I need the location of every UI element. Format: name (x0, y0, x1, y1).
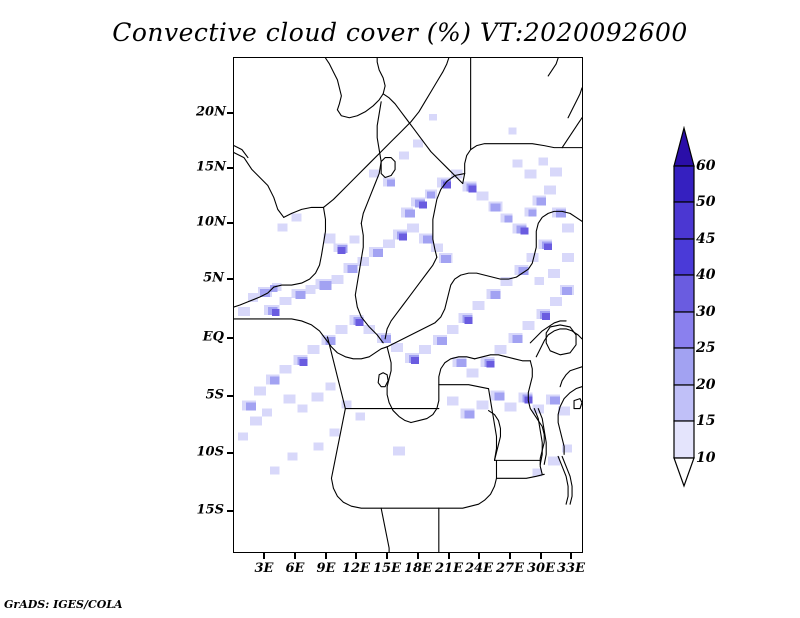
colorbar-label-10: 10 (696, 450, 715, 466)
y-axis-label-15n: 15N (196, 160, 224, 175)
x-tick-21e (448, 553, 450, 559)
map-plot-area (233, 57, 583, 553)
y-tick-10n (227, 222, 233, 224)
x-tick-27e (509, 553, 511, 559)
y-tick-20n (227, 112, 233, 114)
colorbar-segment-50-60 (674, 166, 694, 202)
colorbar-label-15: 15 (696, 413, 715, 429)
colorbar-label-40: 40 (696, 267, 715, 283)
colorbar-segment-10-15 (674, 421, 694, 458)
y-tick-5s (227, 395, 233, 397)
x-tick-6e (294, 553, 296, 559)
colorbar-label-45: 45 (696, 231, 715, 247)
x-tick-15e (386, 553, 388, 559)
colorbar-segment-30-40 (674, 275, 694, 312)
y-axis-label-10s: 10S (196, 445, 224, 460)
x-axis-label-6e: 6E (286, 561, 305, 576)
colorbar-label-60: 60 (696, 158, 715, 174)
y-axis-label-5n: 5N (196, 271, 224, 286)
x-axis-label-24e: 24E (465, 561, 493, 576)
colorbar-label-50: 50 (696, 194, 715, 210)
colorbar-segment-25-30 (674, 312, 694, 348)
colorbar-label-20: 20 (696, 377, 715, 393)
x-tick-30e (540, 553, 542, 559)
colorbar-cap-high (674, 128, 694, 166)
x-axis-label-3e: 3E (255, 561, 274, 576)
x-tick-33e (570, 553, 572, 559)
y-axis-label-10n: 10N (196, 215, 224, 230)
x-axis-label-33e: 33E (557, 561, 585, 576)
colorbar-cap-low (674, 458, 694, 486)
colorbar-segment-15-20 (674, 385, 694, 421)
colorbar-segment-20-25 (674, 348, 694, 385)
y-tick-5n (227, 278, 233, 280)
x-tick-12e (355, 553, 357, 559)
colorbar-segment-40-45 (674, 239, 694, 275)
colorbar (672, 126, 696, 488)
x-axis-label-15e: 15E (373, 561, 401, 576)
x-tick-9e (325, 553, 327, 559)
y-axis-label-20n: 20N (196, 105, 224, 120)
y-tick-15s (227, 510, 233, 512)
grads-plot-window: Convective cloud cover (%) VT:2020092600 (0, 0, 800, 618)
colorbar-segment-45-50 (674, 202, 694, 239)
colorbar-label-25: 25 (696, 340, 715, 356)
x-tick-3e (263, 553, 265, 559)
y-tick-15n (227, 167, 233, 169)
x-axis-label-9e: 9E (317, 561, 336, 576)
x-axis-label-27e: 27E (496, 561, 524, 576)
y-axis-label-15s: 15S (196, 503, 224, 518)
x-axis-label-30e: 30E (527, 561, 555, 576)
y-axis-label-eq: EQ (196, 330, 224, 345)
x-axis-label-18e: 18E (404, 561, 432, 576)
x-axis-label-12e: 12E (342, 561, 370, 576)
y-axis-label-5s: 5S (196, 388, 224, 403)
colorbar-label-30: 30 (696, 304, 715, 320)
x-tick-24e (478, 553, 480, 559)
y-tick-eq (227, 337, 233, 339)
page-title: Convective cloud cover (%) VT:2020092600 (0, 18, 800, 47)
y-tick-10s (227, 452, 233, 454)
x-tick-18e (417, 553, 419, 559)
coastline-and-borders (234, 58, 582, 552)
x-axis-label-21e: 21E (435, 561, 463, 576)
grads-credit: GrADS: IGES/COLA (4, 598, 123, 611)
